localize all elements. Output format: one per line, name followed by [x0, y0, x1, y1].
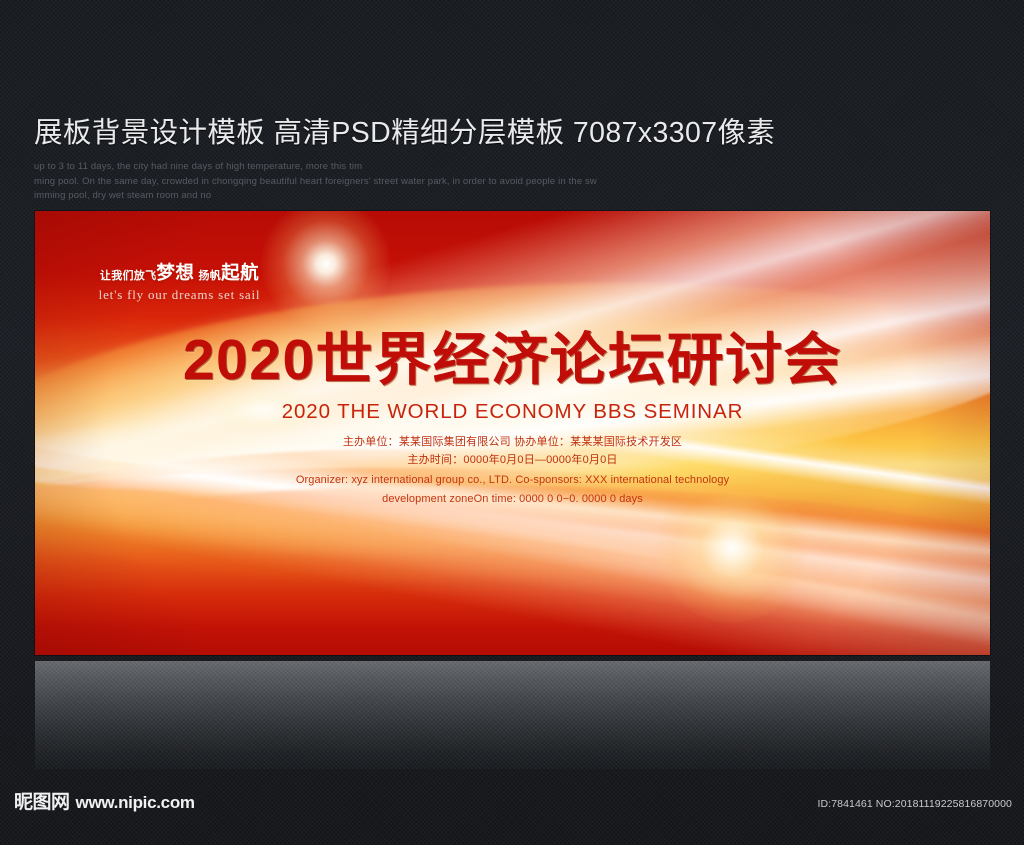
tagline-cn-big1: 梦想: [156, 262, 194, 283]
banner-main-title: 2020世界经济论坛研讨会: [35, 331, 990, 391]
page-root: 展板背景设计模板 高清PSD精细分层模板 7087x3307像素 up to 3…: [0, 0, 1024, 845]
header-description-line-1: up to 3 to 11 days, the city had nine da…: [34, 160, 834, 175]
header: 展板背景设计模板 高清PSD精细分层模板 7087x3307像素 up to 3…: [34, 116, 984, 204]
site-logo-url: www.nipic.com: [76, 794, 195, 811]
header-description: up to 3 to 11 days, the city had nine da…: [34, 160, 834, 204]
footer: 昵图网 www.nipic.com ID:7841461 NO:20181119…: [0, 785, 1024, 845]
banner-artwork: 让我们放飞梦想 扬帆起航 let's fly our dreams set sa…: [35, 211, 990, 655]
banner-tagline-english: let's fly our dreams set sail: [87, 287, 272, 303]
header-description-line-2: ming pool. On the same day, crowded in c…: [34, 175, 834, 190]
banner-detail-en-line-2: development zoneOn time: 0000 0 0−0. 000…: [35, 491, 990, 507]
header-description-line-3: imming pool, dry wet steam room and no: [34, 189, 834, 204]
site-logo-chinese: 昵图网: [14, 793, 70, 812]
banner-title-block: 2020世界经济论坛研讨会 2020 THE WORLD ECONOMY BBS…: [35, 331, 990, 424]
tagline-cn-part2: 扬帆: [198, 270, 221, 282]
asset-id-text: ID:7841461 NO:20181119225816870000: [817, 798, 1012, 810]
banner-tagline: 让我们放飞梦想 扬帆起航 let's fly our dreams set sa…: [87, 259, 272, 303]
tagline-cn-part1: 让我们放飞: [100, 270, 157, 282]
banner-text-content: 让我们放飞梦想 扬帆起航 let's fly our dreams set sa…: [35, 211, 990, 655]
banner-tagline-chinese: 让我们放飞梦想 扬帆起航: [87, 259, 272, 285]
banner-sub-title: 2020 THE WORLD ECONOMY BBS SEMINAR: [35, 400, 990, 424]
banner-detail-cn-line-1: 主办单位：某某国际集团有限公司 协办单位：某某某国际技术开发区: [35, 433, 990, 451]
page-title: 展板背景设计模板 高清PSD精细分层模板 7087x3307像素: [34, 116, 984, 150]
site-logo[interactable]: 昵图网 www.nipic.com: [14, 793, 195, 812]
banner-detail-cn-line-2: 主办时间：0000年0月0日—0000年0月0日: [35, 451, 990, 469]
tagline-cn-big2: 起航: [221, 262, 259, 283]
banner-detail-en-line-1: Organizer: xyz international group co., …: [35, 472, 990, 488]
banner-reflection: [35, 661, 990, 769]
banner-details: 主办单位：某某国际集团有限公司 协办单位：某某某国际技术开发区 主办时间：000…: [35, 433, 990, 507]
